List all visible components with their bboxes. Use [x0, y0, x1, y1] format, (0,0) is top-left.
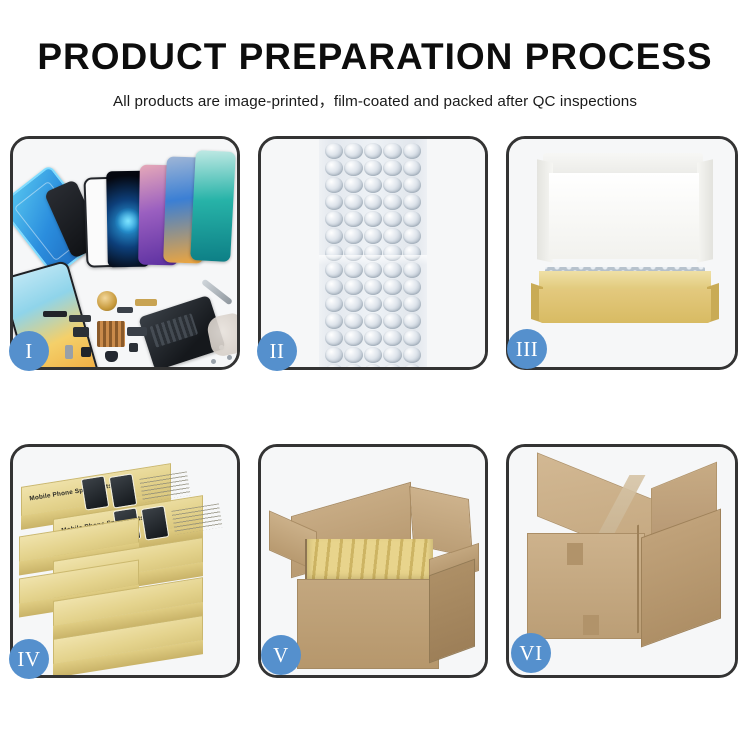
flex-cable-part	[69, 315, 91, 322]
box-lid-right-flap	[697, 159, 713, 262]
bubble	[383, 143, 401, 159]
bubble	[325, 143, 343, 159]
bubble	[403, 194, 421, 210]
bubble	[344, 160, 362, 176]
step-image-4: Mobile Phone Spare PartsMobile Phone Spa…	[13, 447, 237, 675]
product-preparation-infographic: PRODUCT PREPARATION PROCESS All products…	[0, 0, 750, 750]
bubble	[325, 313, 343, 329]
bubble	[364, 143, 382, 159]
bubble	[325, 177, 343, 193]
retail-box	[53, 589, 203, 615]
bubble	[383, 228, 401, 244]
box-art-phone-screen	[81, 475, 110, 510]
bubble	[344, 143, 362, 159]
antenna-strip-part	[43, 311, 67, 317]
bubble	[383, 160, 401, 176]
steps-grid: I II II	[10, 136, 740, 678]
step-panel-5: V	[258, 444, 488, 678]
screw-icon	[211, 359, 216, 364]
bubble	[364, 194, 382, 210]
box-tray-rim	[539, 271, 711, 291]
bubble	[383, 211, 401, 227]
sim-tray-part	[65, 345, 73, 359]
chip-grid-icon	[97, 321, 125, 347]
bubble	[325, 194, 343, 210]
bubble	[383, 347, 401, 363]
retail-box-stack: Mobile Phone Spare PartsMobile Phone Spa…	[17, 465, 237, 665]
bubble	[325, 228, 343, 244]
step-badge-1: I	[9, 331, 49, 371]
step-panel-4: Mobile Phone Spare PartsMobile Phone Spa…	[10, 444, 240, 678]
bubble	[325, 279, 343, 295]
step-panel-3: III	[506, 136, 738, 370]
step-image-2	[261, 139, 485, 367]
bubble	[403, 330, 421, 346]
bubble	[344, 279, 362, 295]
bubble	[383, 313, 401, 329]
bubble	[403, 143, 421, 159]
bubble	[383, 177, 401, 193]
copper-coil-icon	[97, 291, 117, 311]
step-panel-2: II	[258, 136, 488, 370]
bubble	[344, 194, 362, 210]
ribbon-cable-part	[117, 307, 133, 313]
bubble	[403, 228, 421, 244]
bubble	[364, 211, 382, 227]
connector-part	[73, 327, 89, 337]
bubble-wrap-sleeve	[319, 139, 427, 367]
bubble	[364, 330, 382, 346]
carton-front-face	[297, 579, 439, 669]
box-tray-front	[539, 289, 711, 323]
carton-edge-seam	[637, 525, 639, 634]
bubble	[325, 211, 343, 227]
carton-flap-tab	[567, 543, 583, 565]
bubble	[344, 347, 362, 363]
bubble	[364, 313, 382, 329]
bubble	[344, 330, 362, 346]
bubble	[383, 296, 401, 312]
retail-box	[53, 627, 203, 653]
bubble	[364, 160, 382, 176]
phone-parts-scene	[13, 139, 237, 367]
teal-phone-icon	[190, 150, 236, 262]
bubble	[403, 279, 421, 295]
box-art-phone-screen	[109, 473, 138, 508]
box-lid-panel	[549, 173, 699, 259]
step-badge-5: V	[261, 635, 301, 675]
bubble	[403, 177, 421, 193]
bubble	[403, 211, 421, 227]
bubble	[364, 364, 382, 367]
bubble	[403, 364, 421, 367]
bubble	[403, 313, 421, 329]
step-badge-4: IV	[9, 639, 49, 679]
bubble	[383, 194, 401, 210]
step-image-1	[13, 139, 237, 367]
bubble	[383, 279, 401, 295]
retail-box: Mobile Phone Spare Parts	[21, 475, 171, 505]
bubble	[344, 296, 362, 312]
bubble	[383, 364, 401, 367]
speaker-part	[105, 351, 118, 362]
page-subtitle: All products are image-printed，film-coat…	[0, 78, 750, 111]
bubble	[325, 347, 343, 363]
button-flex-part	[127, 327, 147, 336]
step-badge-3: III	[507, 329, 547, 369]
bubble	[344, 177, 362, 193]
bubble	[325, 330, 343, 346]
page-title: PRODUCT PREPARATION PROCESS	[0, 0, 750, 78]
bubble	[403, 347, 421, 363]
step-panel-6: VI	[506, 444, 738, 678]
box-art-phone-screen	[141, 505, 170, 540]
step-badge-2: II	[257, 331, 297, 371]
bubble	[364, 279, 382, 295]
bubble	[325, 364, 343, 367]
wrap-sheen	[319, 255, 427, 265]
bubble	[325, 296, 343, 312]
carton-flap-tab	[583, 615, 599, 635]
screw-icon	[227, 355, 232, 360]
bubble	[383, 330, 401, 346]
small-chip-part	[129, 343, 138, 352]
step-image-3	[509, 139, 735, 367]
bubble	[364, 228, 382, 244]
bubble	[344, 228, 362, 244]
bubble	[364, 296, 382, 312]
bubble	[364, 177, 382, 193]
bubble	[344, 313, 362, 329]
camera-module-part	[81, 347, 91, 357]
bubble	[364, 347, 382, 363]
step-panel-1: I	[10, 136, 240, 370]
gold-contact-part	[135, 299, 157, 306]
carton-right-face	[429, 559, 475, 664]
header: PRODUCT PREPARATION PROCESS All products…	[0, 0, 750, 111]
step-badge-6: VI	[511, 633, 551, 673]
bubble	[344, 211, 362, 227]
bubble	[403, 160, 421, 176]
bubble	[325, 160, 343, 176]
bubble	[344, 364, 362, 367]
bubble	[403, 296, 421, 312]
